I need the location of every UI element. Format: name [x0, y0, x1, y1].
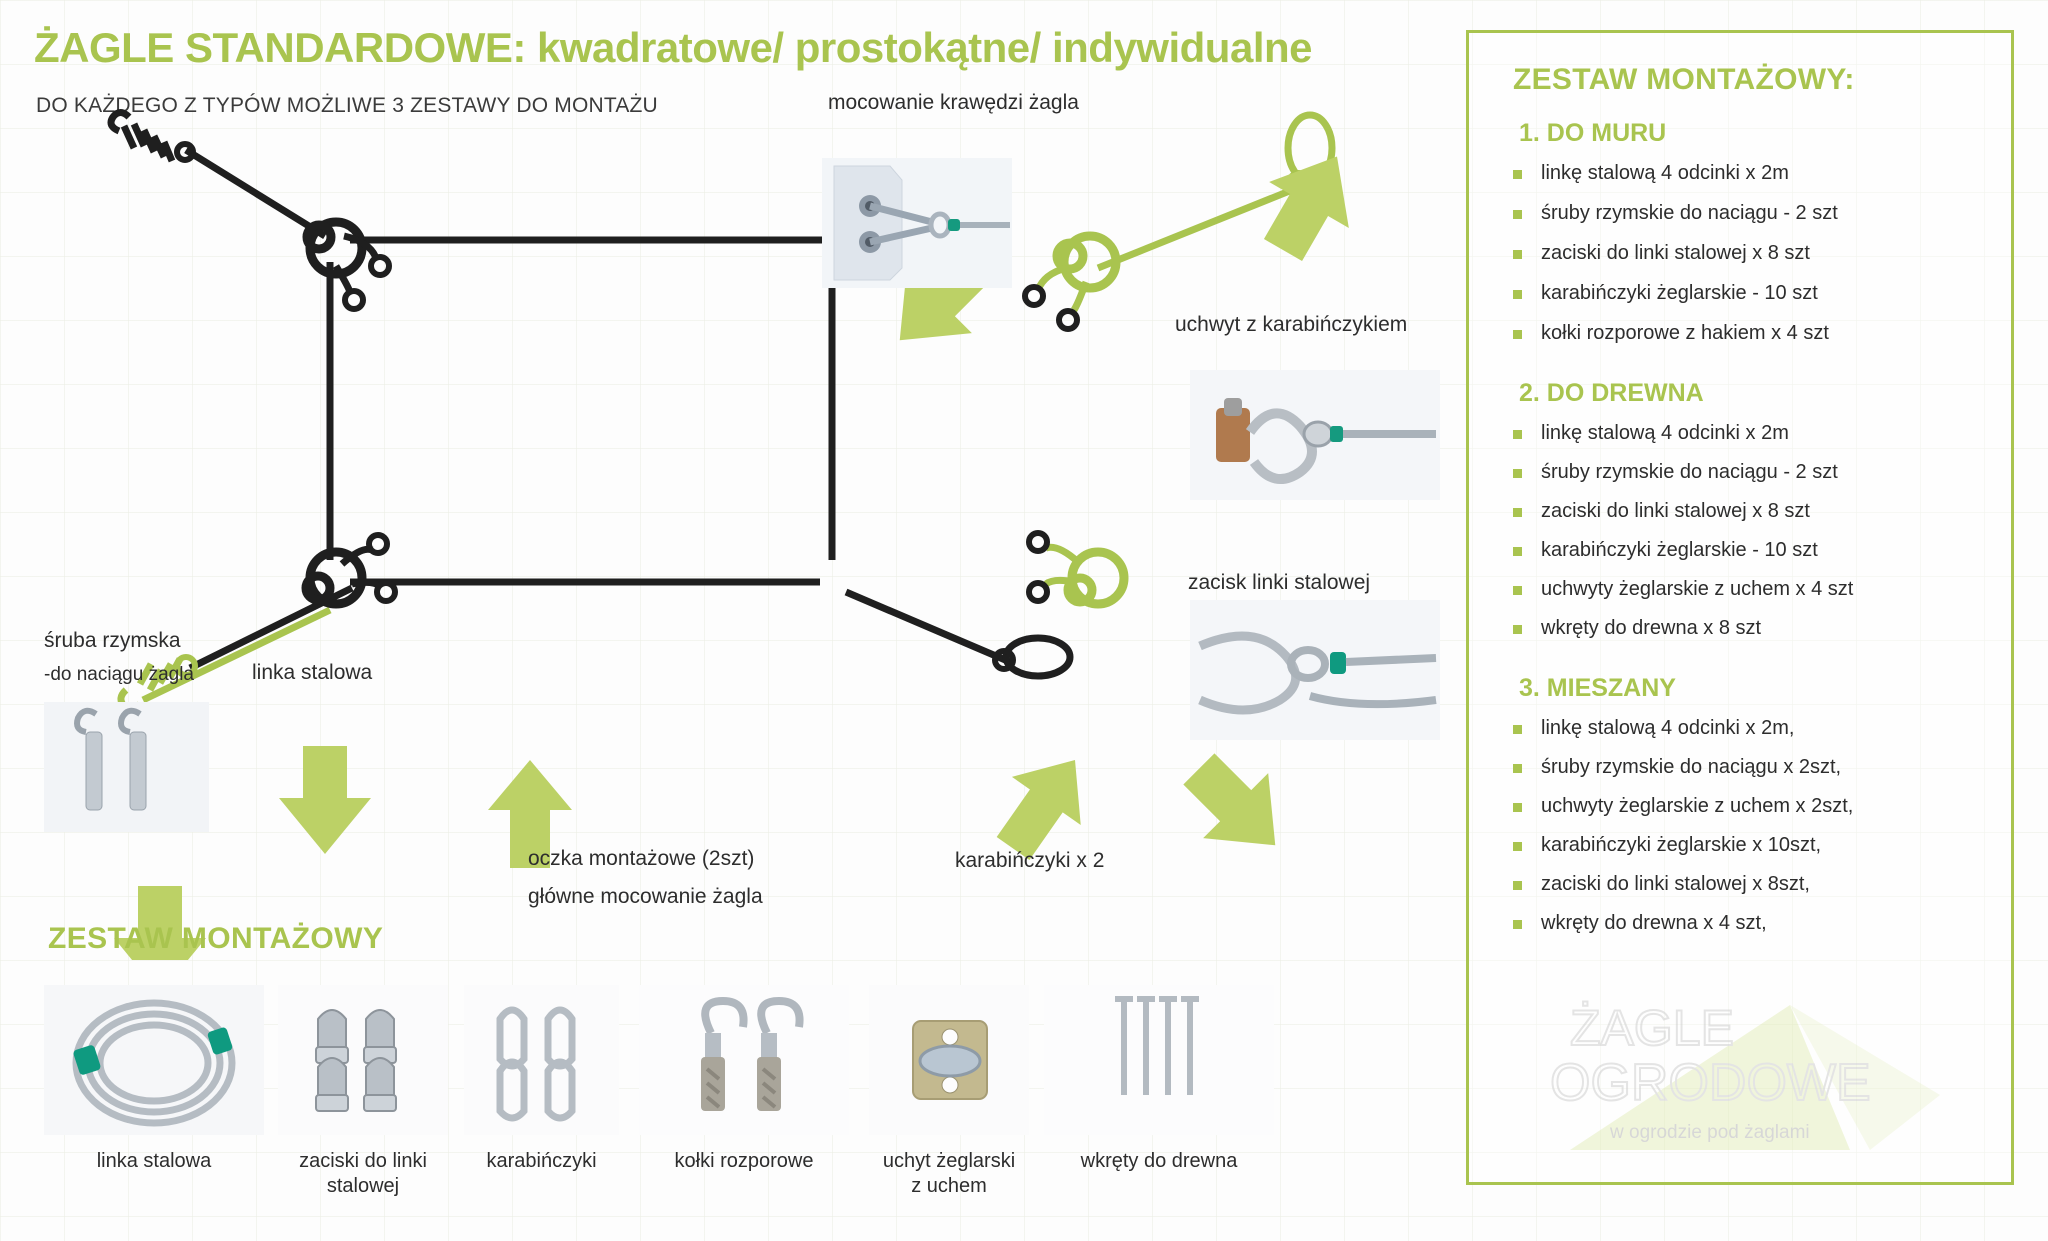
product-label: karabińczyki [464, 1149, 619, 1174]
list-item-label: wkręty do drewna x 4 szt, [1541, 912, 1767, 934]
carabiner-handle-illustration [1190, 370, 1440, 500]
label-eyelets-line1: oczka montażowe (2szt) [528, 846, 754, 873]
bullet-icon [1513, 430, 1522, 439]
label-eyelets-line2: główne mocowanie żagla [528, 884, 763, 911]
list-item-label: linkę stalową 4 odcinki x 2m, [1541, 717, 1794, 739]
list-item: kołki rozporowe z hakiem x 4 szt [1495, 322, 1985, 345]
bullet-icon [1513, 250, 1522, 259]
wire-clamps-illustration [278, 985, 448, 1135]
list-item: zaciski do linki stalowej x 8 szt [1495, 242, 1985, 265]
product-item: linka stalowa [44, 985, 264, 1174]
list-item: wkręty do drewna x 8 szt [1495, 617, 1985, 640]
infographic-page: ŻAGLE STANDARDOWE: kwadratowe/ prostokąt… [0, 0, 2048, 1241]
wood-screws-photo [1044, 985, 1274, 1135]
edge-mount-illustration [822, 158, 1012, 288]
kit-group-3: 3. MIESZANY linkę stalową 4 odcinki x 2m… [1495, 674, 1985, 935]
kit-panel-title: ZESTAW MONTAŻOWY: [1513, 63, 1985, 97]
bullet-icon [1513, 586, 1522, 595]
list-item-label: śruby rzymskie do naciągu - 2 szt [1541, 461, 1838, 483]
bullet-icon [1513, 547, 1522, 556]
wall-hook-top-left [111, 113, 193, 162]
list-item: wkręty do drewna x 4 szt, [1495, 912, 1985, 935]
list-item: śruby rzymskie do naciągu - 2 szt [1495, 202, 1985, 225]
product-item: karabińczyki [464, 985, 619, 1174]
photo-edge-mount [822, 158, 1012, 288]
list-item: śruby rzymskie do naciągu - 2 szt [1495, 461, 1985, 484]
corner-hardware-top-right [1025, 236, 1116, 329]
bullet-icon [1513, 508, 1522, 517]
label-carabiner-handle: uchwyt z karabińczykiem [1175, 312, 1407, 339]
list-item: linkę stalową 4 odcinki x 2m [1495, 162, 1985, 185]
product-label: uchyt żeglarski z uchem [869, 1149, 1029, 1199]
product-label: linka stalowa [44, 1149, 264, 1174]
list-item-label: karabińczyki żeglarskie - 10 szt [1541, 539, 1818, 561]
product-item: zaciski do linki stalowej [278, 985, 448, 1199]
corner-hardware-bottom-right [1029, 533, 1124, 604]
label-wire-clamp: zacisk linki stalowej [1188, 570, 1370, 597]
bullet-icon [1513, 881, 1522, 890]
list-item-label: śruby rzymskie do naciągu x 2szt, [1541, 756, 1841, 778]
product-item: wkręty do drewna [1044, 985, 1274, 1174]
bottom-kit-title: ZESTAW MONTAŻOWY [48, 922, 383, 956]
installation-kit-panel: ZESTAW MONTAŻOWY: 1. DO MURU linkę stalo… [1466, 30, 2014, 1185]
list-item: karabińczyki żeglarskie - 10 szt [1495, 282, 1985, 305]
kit-group-2: 2. DO DREWNA linkę stalową 4 odcinki x 2… [1495, 379, 1985, 640]
sail-bracket-photo [869, 985, 1029, 1135]
list-item-label: kołki rozporowe z hakiem x 4 szt [1541, 322, 1829, 344]
product-label: zaciski do linki stalowej [278, 1149, 448, 1199]
arrow-wire-clamp [1166, 736, 1307, 877]
carabiners-photo [464, 985, 619, 1135]
list-item-label: zaciski do linki stalowej x 8 szt [1541, 500, 1810, 522]
list-item: uchwyty żeglarskie z uchem x 4 szt [1495, 578, 1985, 601]
bullet-icon [1513, 803, 1522, 812]
product-label: kołki rozporowe [639, 1149, 849, 1174]
list-item: linkę stalową 4 odcinki x 2m [1495, 422, 1985, 445]
product-item: uchyt żeglarski z uchem [869, 985, 1029, 1199]
bullet-icon [1513, 330, 1522, 339]
wire-coil-photo [44, 985, 264, 1135]
label-steel-wire: linka stalowa [252, 660, 372, 687]
bullet-icon [1513, 170, 1522, 179]
label-carabiners-x2: karabińczyki x 2 [955, 848, 1104, 875]
wire-clamp-illustration [1190, 600, 1440, 740]
list-item-label: uchwyty żeglarskie z uchem x 2szt, [1541, 795, 1853, 817]
list-item: linkę stalową 4 odcinki x 2m, [1495, 717, 1985, 740]
list-item-label: zaciski do linki stalowej x 8szt, [1541, 873, 1810, 895]
kit-group-title: 3. MIESZANY [1519, 674, 1985, 703]
list-item-label: karabińczyki żeglarskie x 10szt, [1541, 834, 1821, 856]
list-item-label: śruby rzymskie do naciągu - 2 szt [1541, 202, 1838, 224]
expansion-hooks-illustration [639, 985, 849, 1135]
list-item: zaciski do linki stalowej x 8szt, [1495, 873, 1985, 896]
photo-turnbuckle [44, 702, 209, 832]
list-item: karabińczyki żeglarskie - 10 szt [1495, 539, 1985, 562]
list-item: karabińczyki żeglarskie x 10szt, [1495, 834, 1985, 857]
bullet-icon [1513, 920, 1522, 929]
corner-hardware-bottom-left [306, 535, 395, 604]
sail-bracket-illustration [869, 985, 1029, 1135]
anchor-loop-bottom-right [995, 638, 1070, 676]
bullet-icon [1513, 842, 1522, 851]
kit-list-1: linkę stalową 4 odcinki x 2m śruby rzyms… [1495, 162, 1985, 345]
label-turnbuckle-title: śruba rzymska [44, 628, 181, 655]
kit-group-title: 2. DO DREWNA [1519, 379, 1985, 408]
turnbuckle-illustration [44, 702, 209, 832]
pointer-arrows [114, 133, 1377, 960]
kit-list-3: linkę stalową 4 odcinki x 2m, śruby rzym… [1495, 717, 1985, 935]
kit-group-1: 1. DO MURU linkę stalową 4 odcinki x 2m … [1495, 119, 1985, 345]
wire-clamps-photo [278, 985, 448, 1135]
list-item-label: wkręty do drewna x 8 szt [1541, 617, 1761, 639]
product-item: kołki rozporowe [639, 985, 849, 1174]
bullet-icon [1513, 469, 1522, 478]
sail-outline [330, 240, 832, 582]
product-label: wkręty do drewna [1044, 1149, 1274, 1174]
arrow-steel-wire [279, 746, 371, 854]
bottom-product-strip: linka stalowa zaciski do linki stalowej [44, 985, 1444, 1235]
list-item-label: linkę stalową 4 odcinki x 2m [1541, 162, 1789, 184]
list-item: uchwyty żeglarskie z uchem x 2szt, [1495, 795, 1985, 818]
kit-list-2: linkę stalową 4 odcinki x 2m śruby rzyms… [1495, 422, 1985, 640]
sail-installation-diagram [0, 0, 1460, 960]
bullet-icon [1513, 625, 1522, 634]
photo-wire-clamp [1190, 600, 1440, 740]
bullet-icon [1513, 725, 1522, 734]
photo-carabiner-handle [1190, 370, 1440, 500]
label-turnbuckle-sub: -do naciągu żagla [44, 663, 194, 687]
wood-screws-illustration [1044, 985, 1274, 1135]
bullet-icon [1513, 764, 1522, 773]
expansion-hooks-photo [639, 985, 849, 1135]
kit-group-title: 1. DO MURU [1519, 119, 1985, 148]
wire-coil-illustration [44, 985, 264, 1135]
list-item-label: uchwyty żeglarskie z uchem x 4 szt [1541, 578, 1853, 600]
carabiners-illustration [464, 985, 619, 1135]
list-item-label: zaciski do linki stalowej x 8 szt [1541, 242, 1810, 264]
bullet-icon [1513, 290, 1522, 299]
label-edge-mount: mocowanie krawędzi żagla [828, 90, 1079, 117]
list-item: śruby rzymskie do naciągu x 2szt, [1495, 756, 1985, 779]
list-item: zaciski do linki stalowej x 8 szt [1495, 500, 1985, 523]
list-item-label: linkę stalową 4 odcinki x 2m [1541, 422, 1789, 444]
list-item-label: karabińczyki żeglarskie - 10 szt [1541, 282, 1818, 304]
bullet-icon [1513, 210, 1522, 219]
